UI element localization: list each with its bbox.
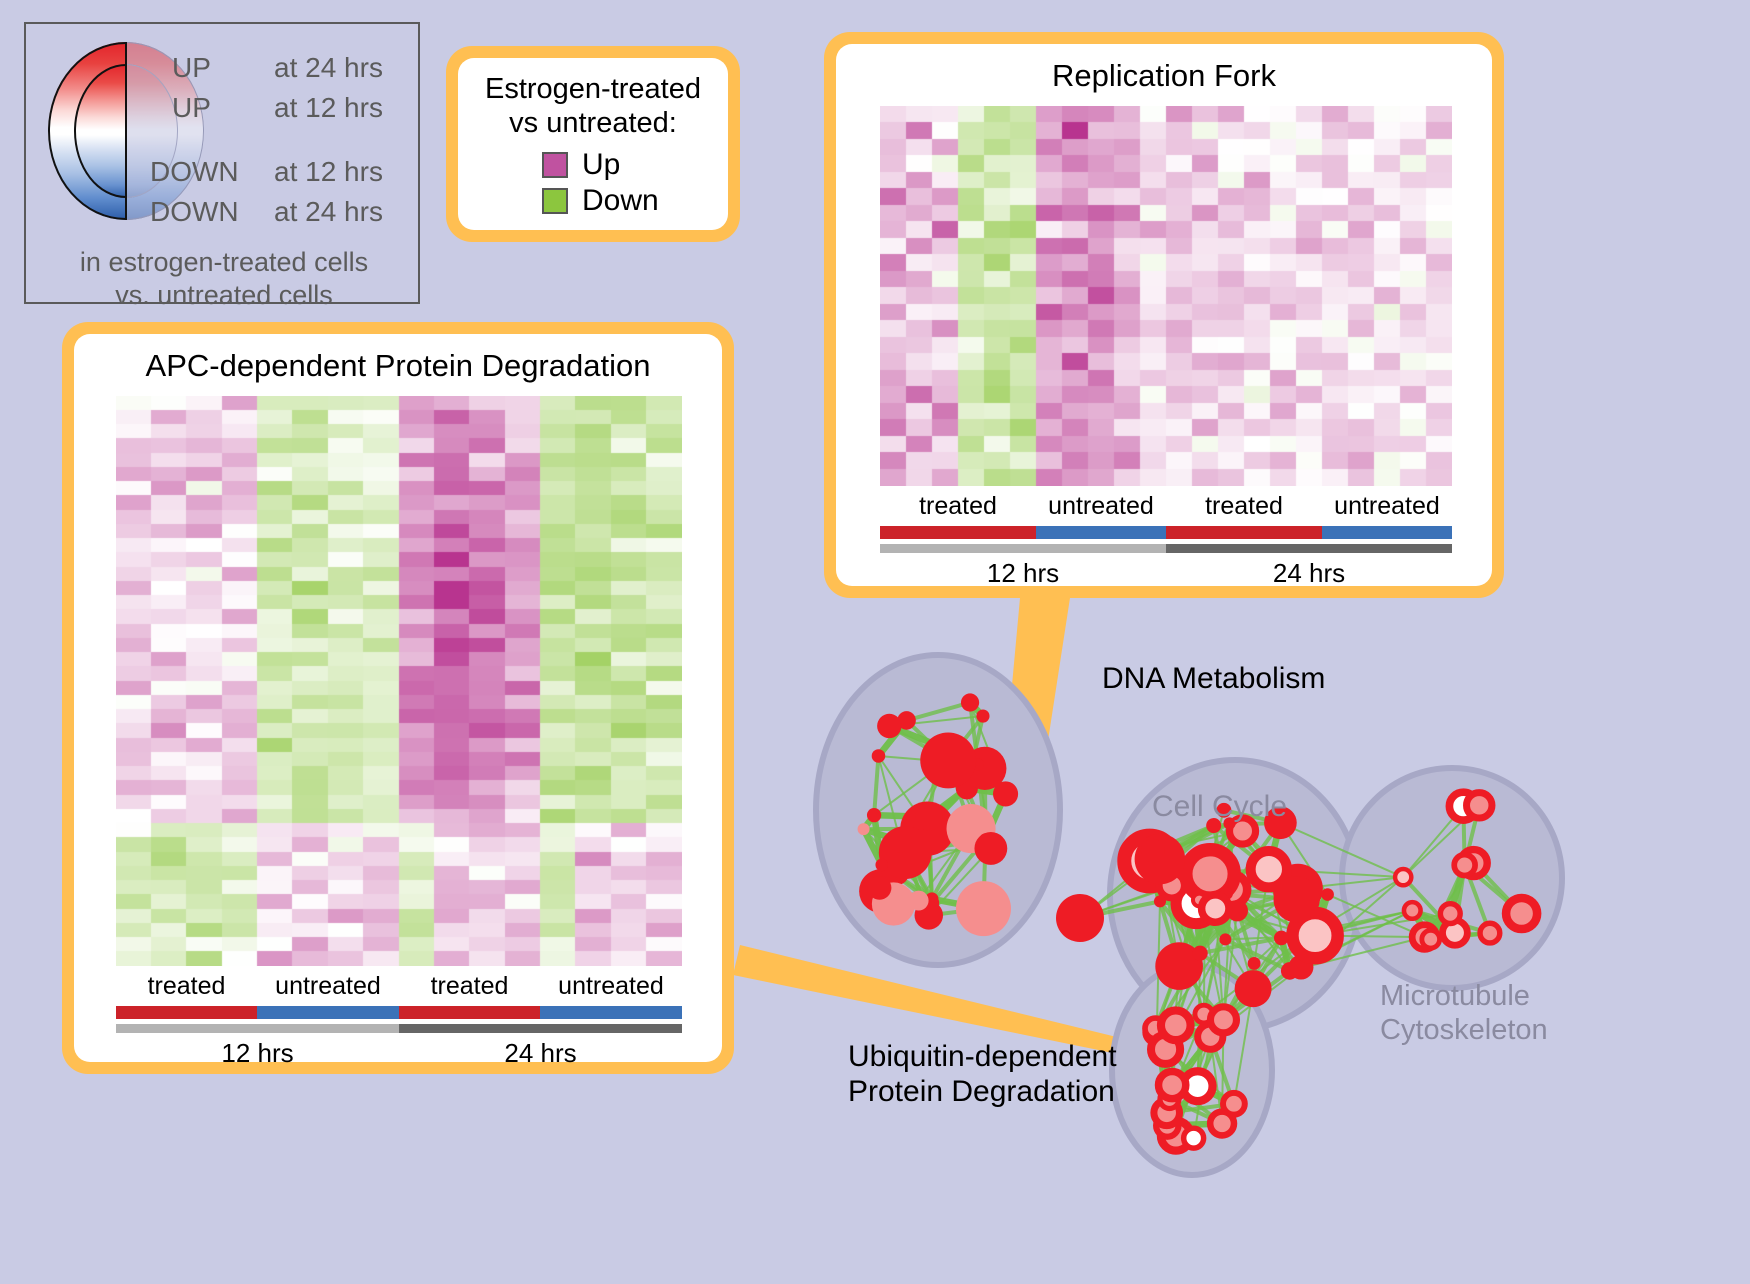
network-node[interactable] <box>875 859 888 872</box>
apc-time-label-24: 24 hrs <box>399 1038 682 1069</box>
apc-cond-label-0: treated <box>116 972 257 1001</box>
cluster-label-microtubule: Microtubule Protein Degradation Cytoskel… <box>1380 980 1548 1047</box>
network-node[interactable] <box>1223 1093 1245 1115</box>
network-node[interactable] <box>1480 923 1500 943</box>
network-node[interactable] <box>1506 898 1537 929</box>
rf-timebar-12 <box>880 544 1166 553</box>
rf-cond-label-3: untreated <box>1322 492 1452 521</box>
apc-bar-untreated-24 <box>540 1006 682 1019</box>
apc-degradation-heatmap <box>116 396 682 966</box>
apc-condition-bar <box>116 1006 682 1019</box>
key-caption-line1: in estrogen-treated cells <box>26 246 422 279</box>
apc-timebar-12 <box>116 1024 399 1033</box>
network-node[interactable] <box>1154 895 1166 907</box>
network-node[interactable] <box>1219 933 1231 945</box>
apc-bar-treated-12 <box>116 1006 257 1019</box>
apc-bar-treated-24 <box>399 1006 540 1019</box>
network-node[interactable] <box>1210 1007 1236 1033</box>
rf-bar-untreated-12 <box>1036 526 1166 539</box>
network-node[interactable] <box>1248 957 1261 970</box>
network-node[interactable] <box>1395 869 1411 885</box>
pathway-network-graph: DNA Metabolism Cell Cycle Microtubule Pr… <box>780 600 1750 1279</box>
replication-fork-heatmap <box>880 106 1452 486</box>
legend-label-up: Up <box>582 148 620 182</box>
color-key-box: UP at 24 hrs UP at 12 hrs DOWN at 12 hrs… <box>24 22 420 304</box>
network-node[interactable] <box>976 709 989 722</box>
network-node[interactable] <box>915 803 942 830</box>
apc-cond-label-3: untreated <box>540 972 682 1001</box>
legend-items: Up Down <box>458 148 728 218</box>
legend-item-up: Up <box>542 148 728 182</box>
network-node[interactable] <box>1192 946 1207 961</box>
network-node[interactable] <box>889 829 912 852</box>
legend-title: Estrogen-treated vs untreated: <box>458 72 728 140</box>
legend-title-line1: Estrogen-treated <box>458 72 728 106</box>
apc-panel-title: APC-dependent Protein Degradation <box>74 334 722 384</box>
ubiquitin-line1: Ubiquitin-dependent <box>848 1040 1117 1075</box>
updown-legend-panel: Estrogen-treated vs untreated: Up Down <box>446 46 740 242</box>
replication-fork-title: Replication Fork <box>836 44 1492 94</box>
network-node[interactable] <box>868 876 892 900</box>
key-caption-line2: vs. untreated cells <box>26 279 422 312</box>
network-node[interactable] <box>1141 839 1165 863</box>
rf-cond-label-2: treated <box>1166 492 1322 521</box>
network-node[interactable] <box>1467 793 1492 818</box>
replication-fork-time-bar <box>880 544 1452 553</box>
rf-cond-label-0: treated <box>880 492 1036 521</box>
apc-time-label-12: 12 hrs <box>116 1038 399 1069</box>
rf-time-label-12: 12 hrs <box>880 558 1166 589</box>
apc-timebar-24 <box>399 1024 682 1033</box>
network-node[interactable] <box>1274 931 1289 946</box>
network-node[interactable] <box>956 881 1011 936</box>
down-swatch-icon <box>542 188 568 214</box>
network-node[interactable] <box>909 891 929 911</box>
replication-fork-time-labels: 12 hrs 24 hrs <box>880 558 1452 589</box>
key-time-3: at 24 hrs <box>274 196 383 228</box>
microtubule-line2b: Cytoskeleton <box>1380 1014 1548 1048</box>
network-node[interactable] <box>877 714 901 738</box>
apc-condition-labels: treated untreated treated untreated <box>116 972 682 1001</box>
replication-fork-condition-labels: treated untreated treated untreated <box>880 492 1452 521</box>
network-node[interactable] <box>1184 1128 1204 1148</box>
network-node[interactable] <box>858 823 870 835</box>
network-node[interactable] <box>920 733 976 789</box>
network-node[interactable] <box>1202 895 1229 922</box>
apc-time-bar <box>116 1024 682 1033</box>
ubiquitin-line2: Protein Degradation <box>848 1075 1117 1110</box>
network-node[interactable] <box>1251 851 1287 887</box>
network-node[interactable] <box>867 808 881 822</box>
apc-bar-untreated-12 <box>257 1006 399 1019</box>
key-time-2: at 12 hrs <box>274 156 383 188</box>
up-swatch-icon <box>542 152 568 178</box>
network-node[interactable] <box>961 693 979 711</box>
key-time-1: at 12 hrs <box>274 92 383 124</box>
rf-timebar-24 <box>1166 544 1452 553</box>
network-node[interactable] <box>1281 962 1299 980</box>
rf-bar-treated-12 <box>880 526 1036 539</box>
apc-degradation-panel: APC-dependent Protein Degradation treate… <box>62 322 734 1074</box>
replication-fork-panel: Replication Fork treated untreated treat… <box>824 32 1504 598</box>
key-dir-3: DOWN <box>150 196 239 228</box>
cluster-label-ubiquitin: Ubiquitin-dependent Protein Degradation <box>848 1040 1117 1110</box>
network-node[interactable] <box>1422 930 1440 948</box>
legend-item-down: Down <box>542 184 728 218</box>
cluster-label-cell-cycle: Cell Cycle <box>1152 790 1287 824</box>
network-node[interactable] <box>872 749 886 763</box>
apc-time-labels: 12 hrs 24 hrs <box>116 1038 682 1069</box>
rf-time-label-24: 24 hrs <box>1166 558 1452 589</box>
key-dir-0: UP <box>172 52 211 84</box>
key-dir-1: UP <box>172 92 211 124</box>
network-node[interactable] <box>1321 888 1334 901</box>
network-svg <box>780 600 1750 1279</box>
network-node[interactable] <box>993 781 1018 806</box>
network-node[interactable] <box>1235 970 1272 1007</box>
legend-title-line2: vs untreated: <box>458 106 728 140</box>
network-node[interactable] <box>1440 904 1460 924</box>
apc-cond-label-2: treated <box>399 972 540 1001</box>
key-caption: in estrogen-treated cells vs. untreated … <box>26 246 422 312</box>
network-node[interactable] <box>1056 894 1104 942</box>
replication-fork-condition-bar <box>880 526 1452 539</box>
network-node[interactable] <box>1274 876 1320 922</box>
rf-cond-label-1: untreated <box>1036 492 1166 521</box>
network-node[interactable] <box>1404 902 1421 919</box>
network-node[interactable] <box>1159 1071 1186 1098</box>
wheel-divider-line <box>125 42 127 220</box>
legend-label-down: Down <box>582 184 659 218</box>
cluster-label-dna-metabolism: DNA Metabolism <box>1102 662 1325 696</box>
microtubule-line1: Microtubule <box>1380 980 1548 1014</box>
key-time-0: at 24 hrs <box>274 52 383 84</box>
key-dir-2: DOWN <box>150 156 239 188</box>
network-node[interactable] <box>974 832 1007 865</box>
network-node[interactable] <box>1454 855 1475 876</box>
rf-bar-treated-24 <box>1166 526 1322 539</box>
network-node[interactable] <box>1161 1010 1191 1040</box>
rf-bar-untreated-24 <box>1322 526 1452 539</box>
apc-cond-label-1: untreated <box>257 972 399 1001</box>
